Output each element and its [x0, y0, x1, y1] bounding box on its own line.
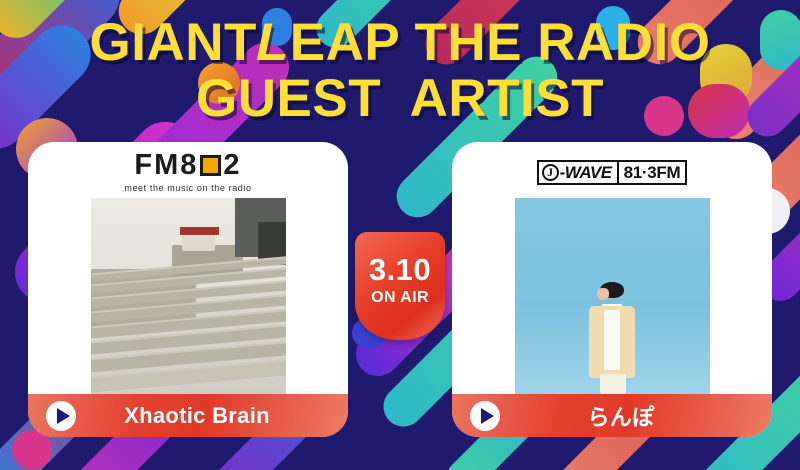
- fm802-logo-text-end: 2: [223, 151, 241, 180]
- bg-dot-amber: [198, 62, 240, 104]
- guest-card-jwave[interactable]: J -WAVE 81·3FM らんぽ: [452, 142, 772, 437]
- jwave-circle-j-icon: J: [542, 164, 559, 181]
- fm802-orange-square-icon: [200, 155, 221, 176]
- radio-guest-artist-poster: GIANTLEAP THE RADIO GUEST ARTIST FM8 2 m…: [0, 0, 800, 470]
- jwave-wordmark: J -WAVE 81·3FM: [537, 160, 688, 185]
- play-icon[interactable]: [470, 401, 500, 431]
- artist-name-left: Xhaotic Brain: [28, 403, 348, 429]
- on-air-badge: 3.10 ON AIR: [355, 232, 445, 340]
- artwork-house-wall: [182, 235, 215, 251]
- jwave-word: -WAVE: [560, 164, 612, 181]
- bg-dot-blue-top: [262, 8, 292, 46]
- on-air-label: ON AIR: [371, 290, 429, 306]
- fm802-wordmark: FM8 2: [134, 151, 241, 180]
- fm802-tagline: meet the music on the radio: [124, 184, 251, 193]
- bg-capsule-crimson-center: [417, 0, 609, 73]
- on-air-date: 3.10: [369, 254, 431, 285]
- bg-dot-pink-right: [644, 96, 684, 136]
- bg-capsule-orange-mid: [109, 0, 207, 44]
- bg-dot-cyan-right: [596, 6, 630, 50]
- play-icon[interactable]: [46, 401, 76, 431]
- artwork-red-roof: [180, 227, 219, 235]
- station-logo-jwave: J -WAVE 81·3FM: [537, 146, 688, 198]
- guest-card-fm802[interactable]: FM8 2 meet the music on the radio: [28, 142, 348, 437]
- artist-name-right: らんぽ: [452, 400, 772, 432]
- jwave-frequency: 81·3FM: [617, 162, 686, 183]
- bg-dot-magenta-right: [688, 84, 750, 138]
- artist-artwork-ranpo: [515, 198, 710, 394]
- play-triangle-icon: [57, 408, 70, 424]
- station-logo-fm802: FM8 2 meet the music on the radio: [124, 146, 251, 198]
- fm802-logo-text: FM8: [134, 151, 198, 180]
- bg-capsule-teal-top: [309, 0, 442, 55]
- play-triangle-icon: [481, 408, 494, 424]
- artwork-person-pants: [600, 374, 625, 394]
- artwork-person-face: [597, 288, 609, 300]
- artist-name-bar-right[interactable]: らんぽ: [452, 394, 772, 437]
- artist-name-bar-left[interactable]: Xhaotic Brain: [28, 394, 348, 437]
- artwork-person-shirt-front: [604, 310, 620, 371]
- artist-artwork-xhaotic-brain: [91, 198, 286, 394]
